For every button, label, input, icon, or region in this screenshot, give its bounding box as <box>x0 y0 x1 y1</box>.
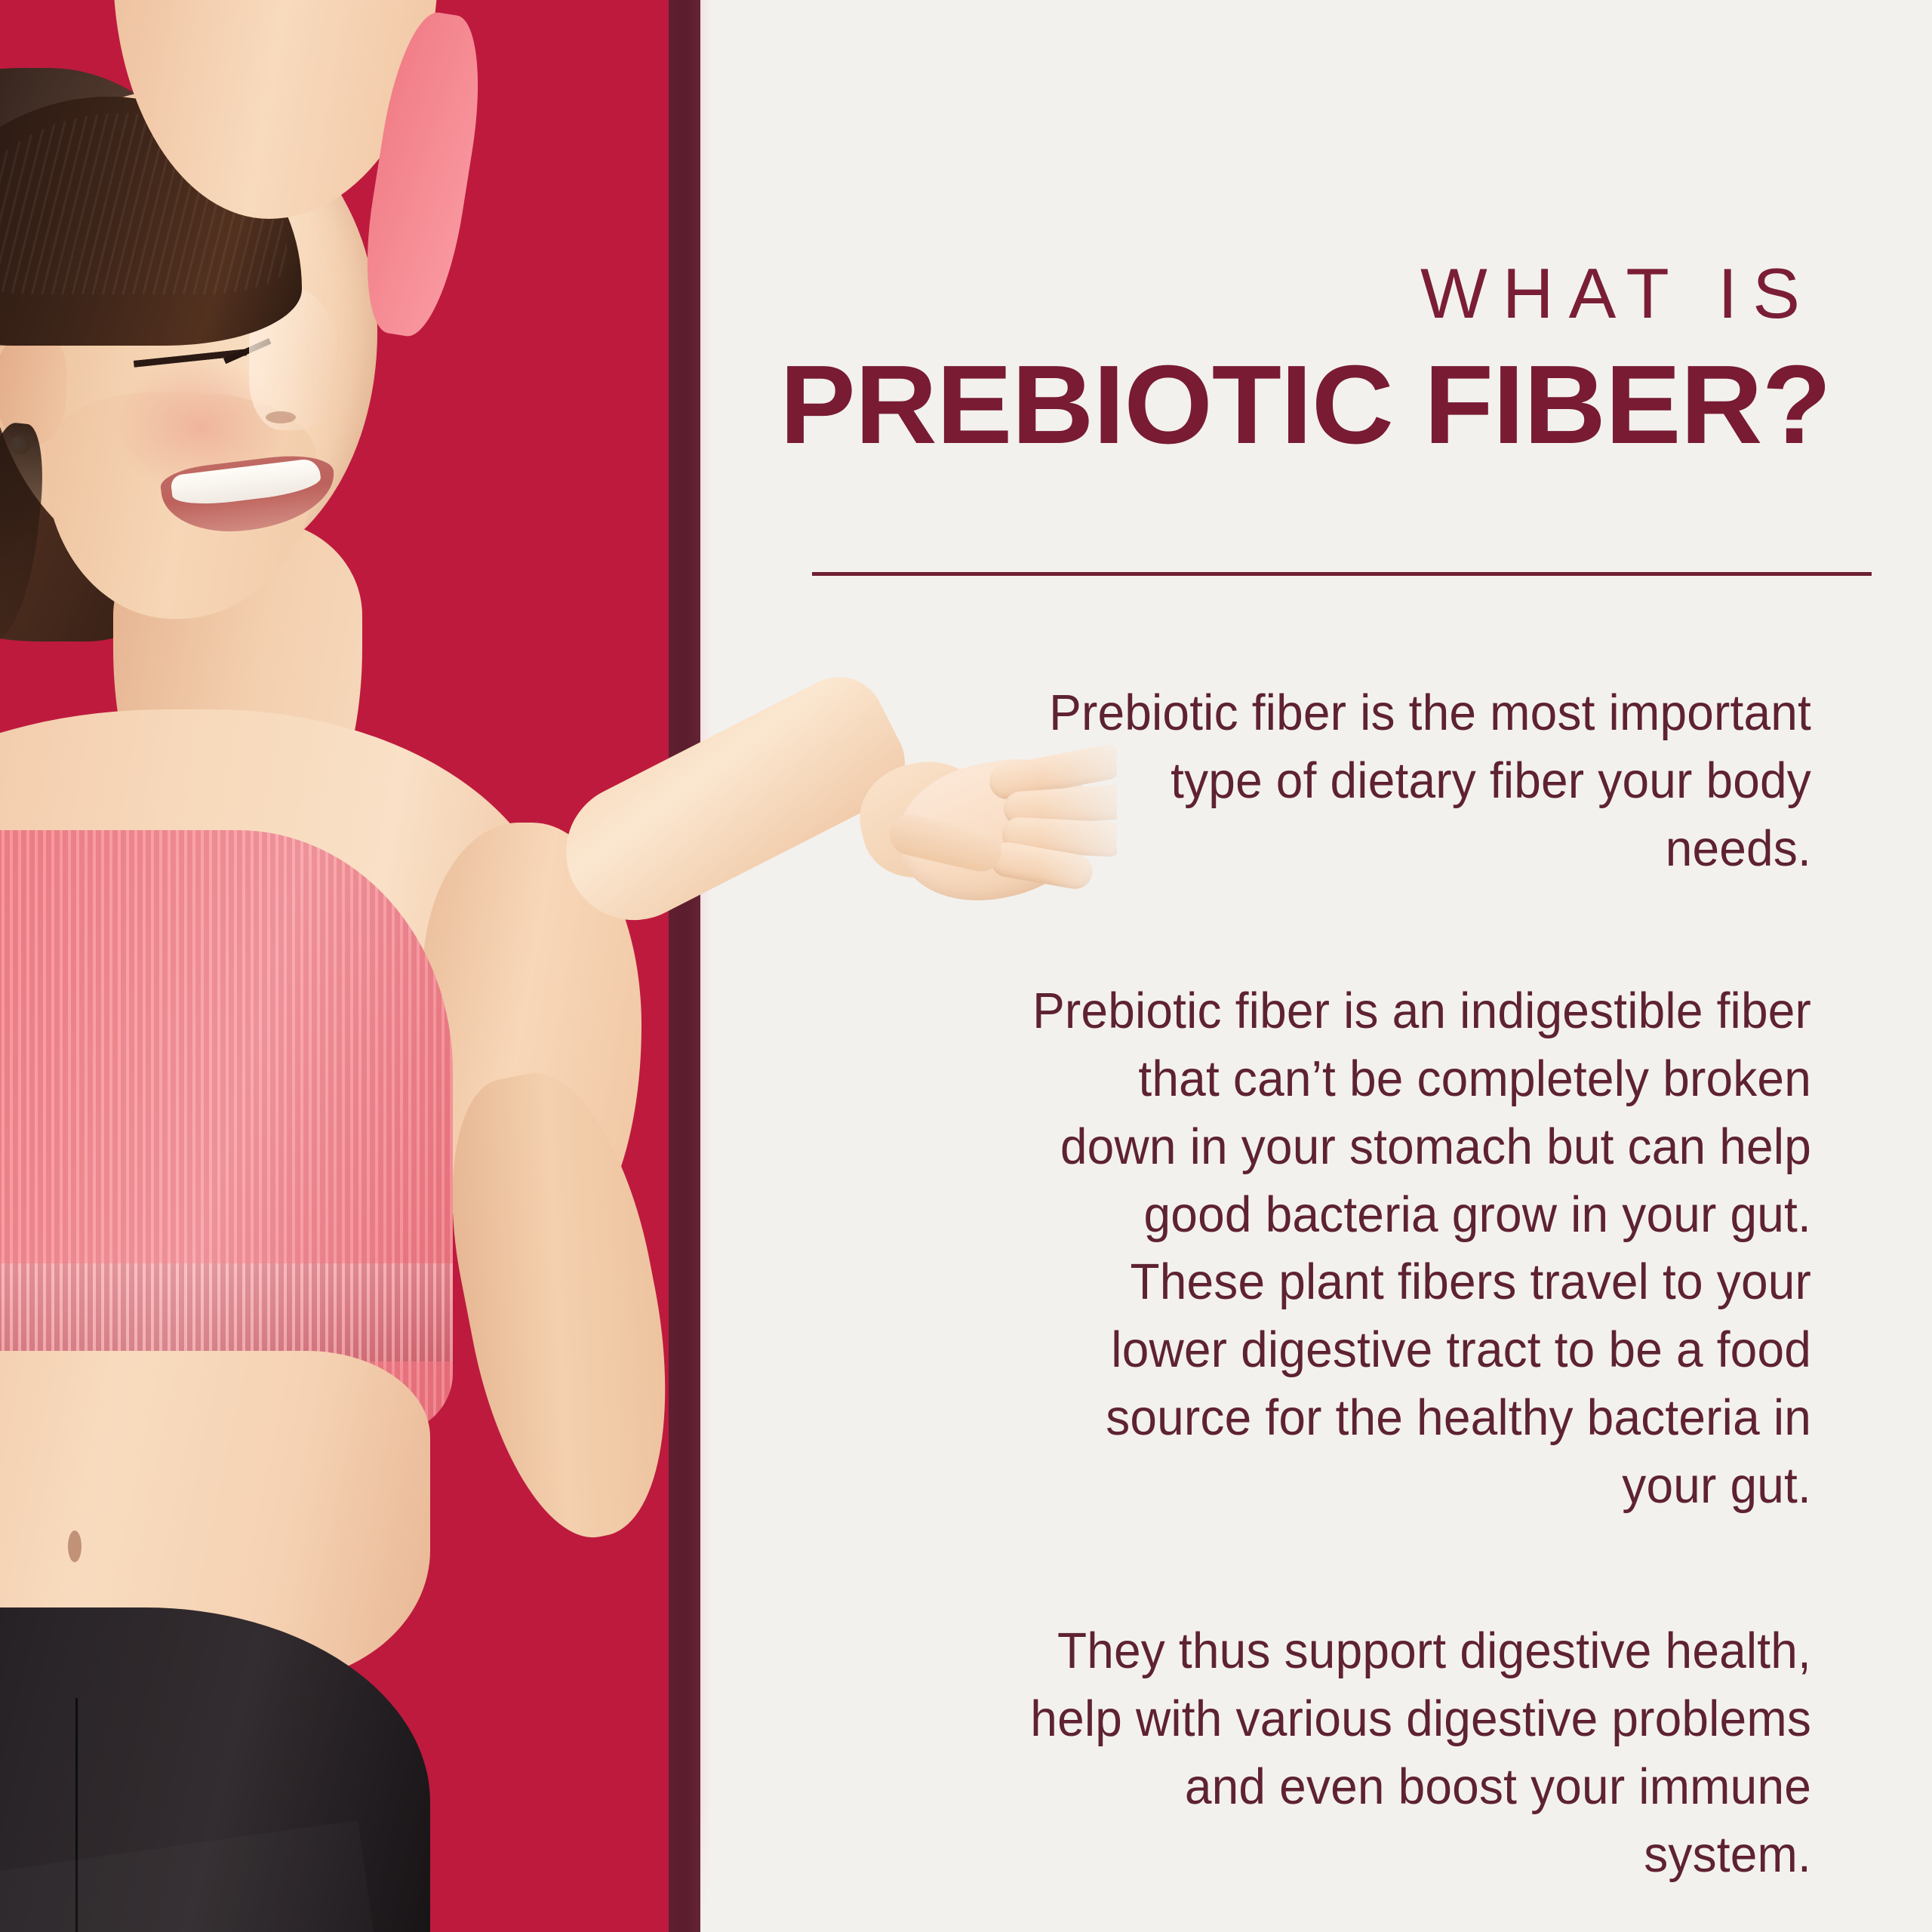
page-kicker: WHAT IS <box>800 258 1815 329</box>
body-copy: Prebiotic fiber is the most important ty… <box>981 679 1811 1888</box>
leggings-yoke-panel <box>0 1820 377 1932</box>
sports-bra-band <box>0 1263 453 1361</box>
page-title: PREBIOTIC FIBER? <box>780 349 1815 463</box>
content-column: WHAT IS PREBIOTIC FIBER? Prebiotic fiber… <box>800 0 1815 1932</box>
paragraph-2: Prebiotic fiber is an indigestible fiber… <box>1019 977 1812 1519</box>
pink-sports-bra <box>0 830 453 1434</box>
poster-canvas: WHAT IS PREBIOTIC FIBER? Prebiotic fiber… <box>0 0 1932 1932</box>
right-upper-arm <box>425 1058 700 1553</box>
paragraph-1: Prebiotic fiber is the most important ty… <box>1019 679 1812 882</box>
navel <box>68 1531 82 1562</box>
paragraph-3: They thus support digestive health, help… <box>1019 1617 1812 1888</box>
title-divider <box>812 572 1872 576</box>
nostril <box>266 411 296 423</box>
